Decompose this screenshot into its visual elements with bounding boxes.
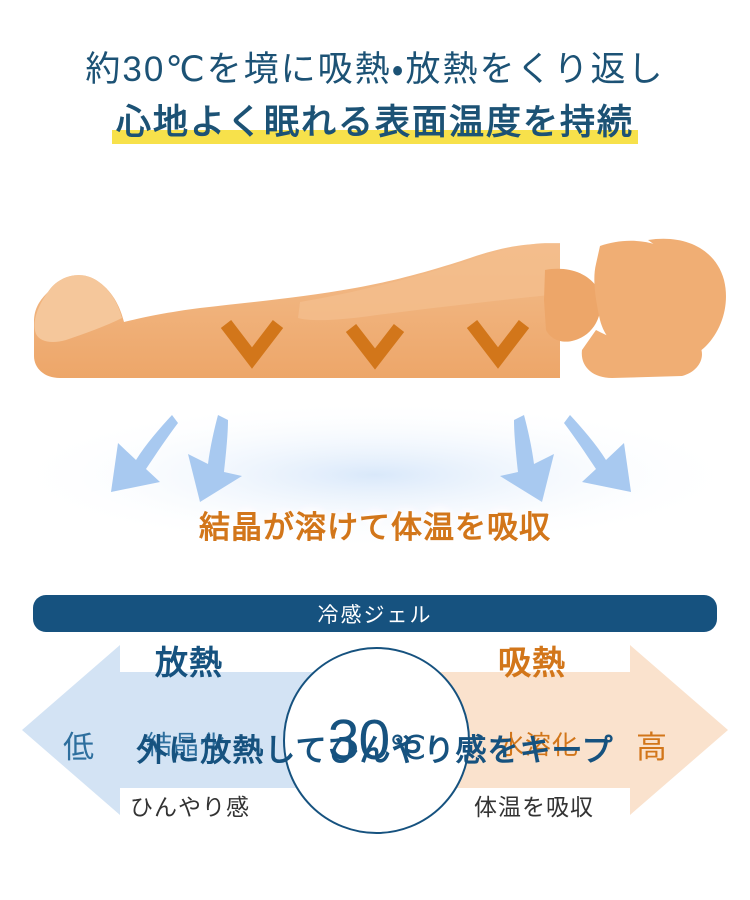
- scale-heading-release: 放熱: [155, 636, 223, 684]
- headline-line-2-wrapper: 心地よく眠れる表面温度を持続: [0, 100, 750, 153]
- headline-line-2: 心地よく眠れる表面温度を持続: [112, 103, 638, 144]
- headline-block: 約30℃を境に吸熱・放熱をくり返し 心地よく眠れる表面温度を持続: [0, 46, 750, 153]
- cooling-gel-bar: 冷感ジェル: [33, 595, 717, 632]
- scale-note-absorb-heat: 体温を吸収: [474, 788, 594, 822]
- scale-heading-absorb: 吸熱: [498, 636, 566, 684]
- cooling-gel-illustration: 結晶が溶けて体温を吸収 冷感ジェル 外に放熱してひんやり感をキープ: [0, 230, 750, 550]
- scale-note-cool-feel: ひんやり感: [130, 788, 250, 822]
- release-label: 外に放熱してひんやり感をキープ: [0, 725, 750, 770]
- headline-line-1: 約30℃を境に吸熱・放熱をくり返し: [0, 46, 750, 94]
- cooling-gel-bar-label: 冷感ジェル: [318, 599, 433, 629]
- absorb-label: 結晶が溶けて体温を吸収: [0, 502, 750, 547]
